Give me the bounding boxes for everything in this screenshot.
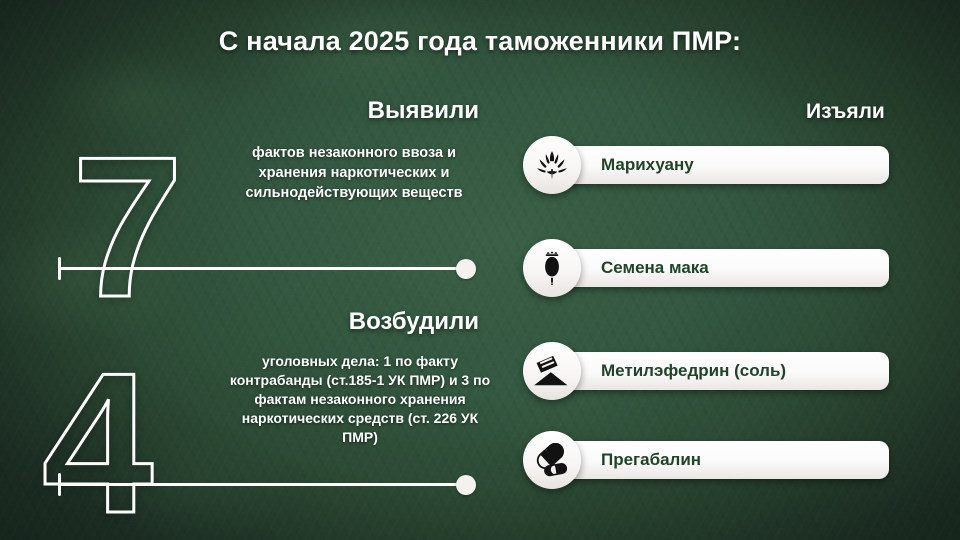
rail-bar [58, 267, 466, 270]
big-numeral-4: 4 [42, 344, 153, 540]
chip-label: Марихуану [601, 146, 694, 184]
cannabis-leaf-icon [523, 136, 581, 194]
chip-label: Прегабалин [601, 441, 701, 479]
section-body-vozbudili: уголовных дела: 1 по факту контрабанды (… [229, 352, 491, 446]
page-title: С начала 2025 года таможенники ПМР: [0, 26, 960, 57]
section-heading-vozbudili: Возбудили [349, 308, 479, 336]
rail-dot [456, 475, 476, 495]
chip-label: Метилэфедрин (соль) [601, 352, 786, 390]
chip-label: Семена мака [601, 249, 709, 287]
rail-dot [456, 259, 476, 279]
razor-blade-powder-icon [523, 342, 581, 400]
infographic-canvas: С начала 2025 года таможенники ПМР: Выяв… [0, 0, 960, 540]
section-body-vyavili: фактов незаконного ввоза и хранения нарк… [229, 143, 479, 203]
rail-bar [58, 483, 466, 486]
poppy-pod-icon [523, 239, 581, 297]
section-heading-izyali: Изъяли [806, 100, 885, 124]
section-heading-vyavili: Выявили [368, 97, 479, 125]
big-numeral-7: 7 [72, 128, 179, 328]
pill-capsule-icon [523, 431, 581, 489]
